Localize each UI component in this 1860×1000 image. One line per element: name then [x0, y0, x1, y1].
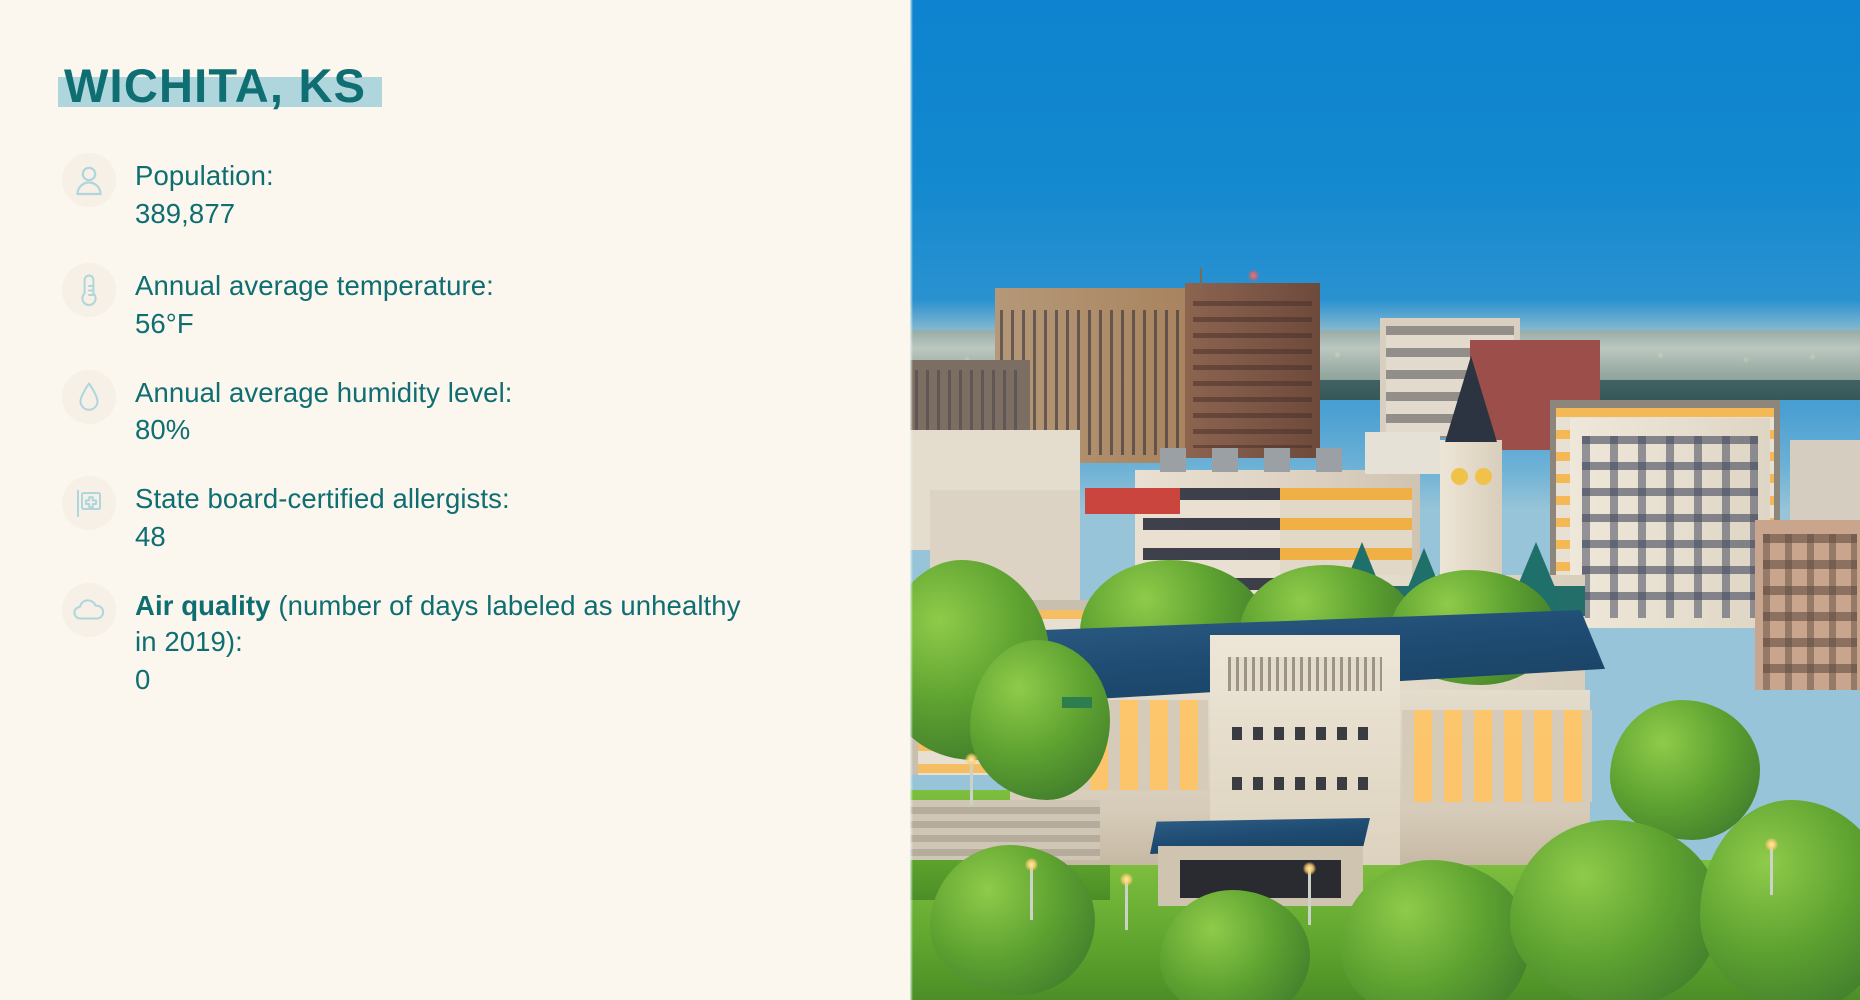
- stat-text-population: Population: 389,877: [135, 157, 274, 233]
- stat-value-allergists: 48: [135, 517, 510, 556]
- tree-right-mid: [1610, 700, 1760, 840]
- clock-tower-spire-icon: [1445, 356, 1497, 442]
- stat-row-allergists: State board-certified allergists: 48: [62, 480, 910, 556]
- stat-label-temperature: Annual average temperature:: [135, 268, 494, 304]
- street-lamp-glow-2: [1120, 873, 1133, 886]
- rooftop-box-white: [1365, 432, 1440, 474]
- stat-value-air-quality: 0: [135, 660, 745, 699]
- brown-tower-dark-wing: [1185, 283, 1320, 458]
- tree-bottom-right-b: [1510, 820, 1720, 1000]
- stat-value-temperature: 56°F: [135, 304, 494, 343]
- street-lamp-glow-1: [1025, 858, 1038, 871]
- right-pale-tower: [1570, 418, 1770, 628]
- city-info-panel: WICHITA, KS Population: 389,877: [0, 0, 910, 1000]
- stat-value-population: 389,877: [135, 194, 274, 233]
- thermometer-icon: [62, 263, 116, 317]
- page-title-wrapper: WICHITA, KS: [62, 58, 368, 115]
- stat-text-humidity: Annual average humidity level: 80%: [135, 374, 513, 450]
- stat-label-air-quality-bold: Air quality: [135, 590, 271, 621]
- street-lamp-glow-3: [1303, 862, 1316, 875]
- tower-antenna: [1200, 268, 1202, 290]
- person-icon: [62, 153, 116, 207]
- water-drop-icon: [62, 370, 116, 424]
- medical-sign-icon: [62, 476, 116, 530]
- right-brick-building: [1755, 520, 1860, 690]
- tree-left-mid: [970, 640, 1110, 800]
- street-lamp-4: [970, 760, 973, 805]
- street-lamp-glow-5: [1765, 838, 1778, 851]
- stat-label-population: Population:: [135, 158, 274, 194]
- stat-label-humidity: Annual average humidity level:: [135, 375, 513, 411]
- street-lamp-2: [1125, 880, 1128, 930]
- stat-text-air-quality: Air quality (number of days labeled as u…: [135, 587, 745, 699]
- stat-row-humidity: Annual average humidity level: 80%: [62, 374, 910, 450]
- street-lamp-3: [1308, 870, 1311, 925]
- stat-row-temperature: Annual average temperature: 56°F: [62, 267, 910, 343]
- photo-left-edge: [910, 0, 913, 1000]
- tree-bottom-left: [930, 845, 1095, 995]
- stat-row-air-quality: Air quality (number of days labeled as u…: [62, 587, 910, 699]
- page-title: WICHITA, KS: [62, 58, 368, 115]
- highway-sign: [1062, 697, 1092, 708]
- stat-value-humidity: 80%: [135, 410, 513, 449]
- rooftop-units: [1160, 448, 1400, 472]
- infographic-page: WICHITA, KS Population: 389,877: [0, 0, 1860, 1000]
- red-accent-band: [1085, 488, 1180, 514]
- courthouse-colonnade-right: [1402, 710, 1592, 802]
- city-photo: [910, 0, 1860, 1000]
- street-lamp-5: [1770, 845, 1773, 895]
- clock-face-right: [1475, 468, 1492, 485]
- stat-row-population: Population: 389,877: [62, 157, 910, 233]
- clock-face-left: [1451, 468, 1468, 485]
- stat-label-air-quality: Air quality (number of days labeled as u…: [135, 588, 745, 660]
- stat-text-allergists: State board-certified allergists: 48: [135, 480, 510, 556]
- stat-label-allergists: State board-certified allergists:: [135, 481, 510, 517]
- cloud-icon: [62, 583, 116, 637]
- stat-text-temperature: Annual average temperature: 56°F: [135, 267, 494, 343]
- tower-antenna-light: [1248, 270, 1259, 281]
- street-lamp-1: [1030, 865, 1033, 920]
- stats-list: Population: 389,877 Annual average tempe…: [62, 157, 910, 699]
- street-lamp-glow-4: [965, 753, 978, 766]
